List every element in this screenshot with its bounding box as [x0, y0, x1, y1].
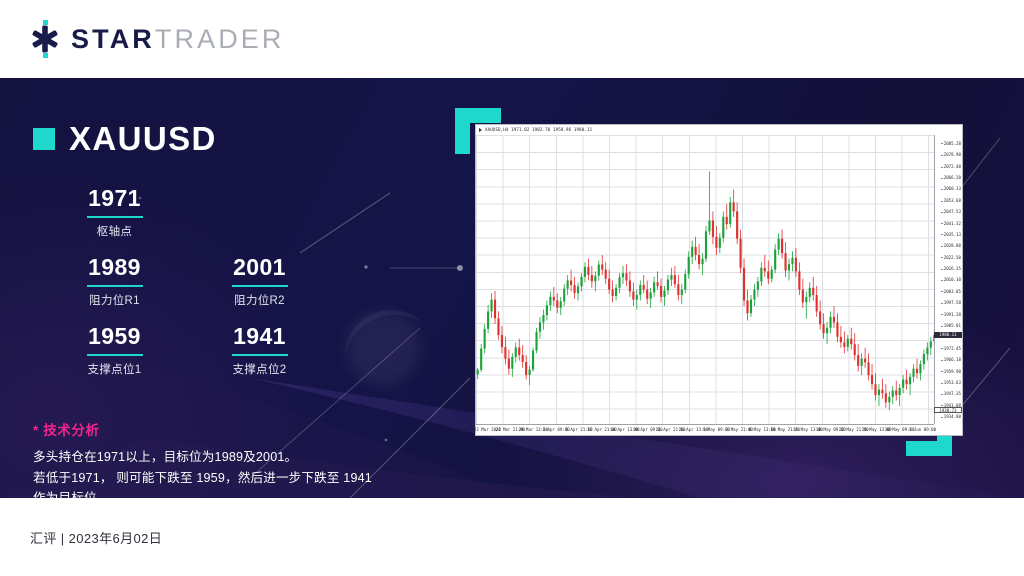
level-r1-label: 阻力位R1 [57, 292, 172, 308]
level-pivot-value: 1971 [57, 185, 172, 216]
price-tick-label: 2078.90 [944, 153, 961, 157]
chevron-right-icon [479, 128, 482, 132]
level-r1: 1989 阻力位R1 [57, 254, 172, 308]
brand-wordmark: STARTRADER [71, 24, 285, 55]
level-underline [87, 216, 143, 218]
chart-header-text: XAUUSD,H4 1971.02 1982.70 1958.96 1980.1… [485, 128, 592, 132]
levels-row-pivot: 1971 枢轴点 [57, 185, 423, 254]
price-tick-label: 1991.28 [944, 313, 961, 317]
level-s2-value: 1941 [202, 323, 317, 354]
page-title: XAUUSD [69, 122, 217, 155]
analysis-line-3: 作为目标位。 [33, 488, 423, 498]
price-tick-label: 1997.58 [944, 301, 961, 305]
price-tick-label: 2041.32 [944, 222, 961, 226]
level-s1-value: 1959 [57, 323, 172, 354]
price-tick-label: 1953.63 [944, 381, 961, 385]
levels-grid: 1971 枢轴点 1989 阻力位R1 2001 阻力位R2 [33, 185, 423, 392]
price-tick-label: 2010.10 [944, 278, 961, 282]
level-underline [232, 285, 288, 287]
price-tick-label: 2060.13 [944, 187, 961, 191]
level-s1-label: 支撑点位1 [57, 361, 172, 377]
levels-row-support: 1959 支撑点位1 1941 支撑点位2 [57, 323, 423, 392]
brand-name-bold: STAR [71, 24, 155, 54]
teal-square-marker [33, 128, 55, 150]
level-r1-value: 1989 [57, 254, 172, 285]
candlestick-plot[interactable] [476, 135, 934, 424]
analysis-line-1: 多头持仓在1971以上，目标位为1989及2001。 [33, 447, 423, 467]
level-r2: 2001 阻力位R2 [202, 254, 317, 308]
chart-header: XAUUSD,H4 1971.02 1982.70 1958.96 1980.1… [476, 125, 962, 135]
footer-text: 汇评 | 2023年6月02日 [30, 528, 162, 547]
main-stage: XAUUSD 1971 枢轴点 1989 阻力位R1 2001 [0, 78, 1024, 498]
price-tick-label: 1966.18 [944, 358, 961, 362]
level-s1: 1959 支撑点位1 [57, 323, 172, 377]
price-tick-label: 1934.80 [944, 415, 961, 419]
price-tick-label: 2066.20 [944, 176, 961, 180]
analysis-body: 多头持仓在1971以上，目标位为1989及2001。 若低于1971， 则可能下… [33, 447, 423, 498]
instrument-title: XAUUSD [33, 122, 423, 155]
time-axis[interactable]: 22 Mar 202324 Mar 21:0029 Mar 13:003 Apr… [476, 424, 934, 435]
asterisk-star-icon [28, 20, 62, 58]
price-tick-label: 1972.45 [944, 347, 961, 351]
price-tick-label: 2028.80 [944, 244, 961, 248]
page-footer: 汇评 | 2023年6月02日 [0, 498, 1024, 576]
price-tick-label: 2047.53 [944, 210, 961, 214]
time-tick-label: 1 Jun 09:00 [909, 428, 936, 432]
brand-logo[interactable]: STARTRADER [28, 20, 285, 58]
mt4-chart-window[interactable]: XAUUSD,H4 1971.02 1982.70 1958.96 1980.1… [475, 124, 963, 436]
levels-row-resistance: 1989 阻力位R1 2001 阻力位R2 [57, 254, 423, 323]
brand-name-light: TRADER [155, 24, 285, 54]
level-s2-label: 支撑点位2 [202, 361, 317, 377]
price-tick-label: 1947.35 [944, 392, 961, 396]
price-tick-label: 1985.01 [944, 324, 961, 328]
price-tick-label: 2072.40 [944, 165, 961, 169]
price-tick-label: 2003.85 [944, 290, 961, 294]
price-tick-label: 2035.13 [944, 233, 961, 237]
page-header: STARTRADER [0, 0, 1024, 78]
candlestick-series [476, 135, 934, 424]
analysis-line-2: 若低于1971， 则可能下跌至 1959，然后进一步下跌至 1941 [33, 468, 423, 488]
level-s2: 1941 支撑点位2 [202, 323, 317, 377]
level-underline [87, 354, 143, 356]
last-price-tag: 1980.11 [934, 332, 962, 338]
low-price-tag: 1938.73 [934, 407, 962, 413]
analysis-heading: * 技术分析 [33, 419, 423, 439]
price-tick-label: 2016.35 [944, 267, 961, 271]
price-axis[interactable]: 2085.282078.902072.402066.202060.132053.… [934, 135, 962, 424]
level-r2-value: 2001 [202, 254, 317, 285]
level-underline [232, 354, 288, 356]
price-tick-label: 2022.50 [944, 256, 961, 260]
level-pivot: 1971 枢轴点 [57, 185, 172, 239]
level-pivot-label: 枢轴点 [57, 223, 172, 239]
price-tick-label: 2085.28 [944, 142, 961, 146]
technical-analysis: * 技术分析 多头持仓在1971以上，目标位为1989及2001。 若低于197… [33, 419, 423, 498]
left-panel: XAUUSD 1971 枢轴点 1989 阻力位R1 2001 [33, 122, 423, 498]
level-underline [87, 285, 143, 287]
chart-zone: XAUUSD,H4 1971.02 1982.70 1958.96 1980.1… [455, 108, 995, 468]
level-r2-label: 阻力位R2 [202, 292, 317, 308]
price-tick-label: 1959.90 [944, 370, 961, 374]
price-tick-label: 2053.68 [944, 199, 961, 203]
